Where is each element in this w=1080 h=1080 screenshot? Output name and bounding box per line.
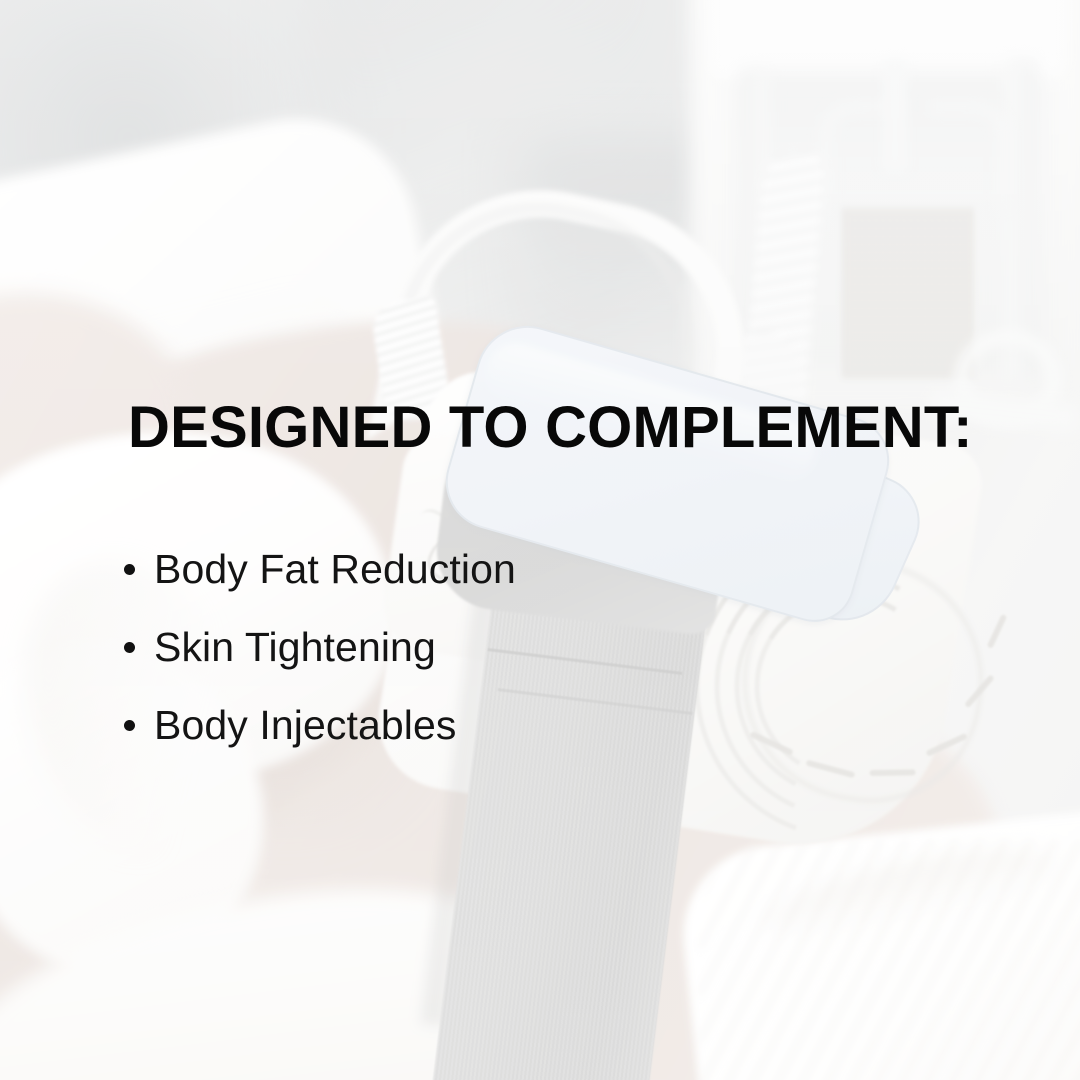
page-title: DESIGNED TO COMPLEMENT: [128,398,973,459]
list-item-label: Body Injectables [154,705,456,746]
list-item-label: Body Fat Reduction [154,549,516,590]
social-graphic-canvas: DESIGNED TO COMPLEMENT: Body Fat Reducti… [0,0,1080,1080]
bullet-dot-icon [124,642,135,653]
list-item: Body Fat Reduction [124,530,516,608]
list-item: Body Injectables [124,686,516,764]
benefits-list: Body Fat Reduction Skin Tightening Body … [124,530,516,764]
list-item: Skin Tightening [124,608,516,686]
bullet-dot-icon [124,564,135,575]
text-content: DESIGNED TO COMPLEMENT: Body Fat Reducti… [0,0,1080,1080]
bullet-dot-icon [124,720,135,731]
list-item-label: Skin Tightening [154,627,436,668]
